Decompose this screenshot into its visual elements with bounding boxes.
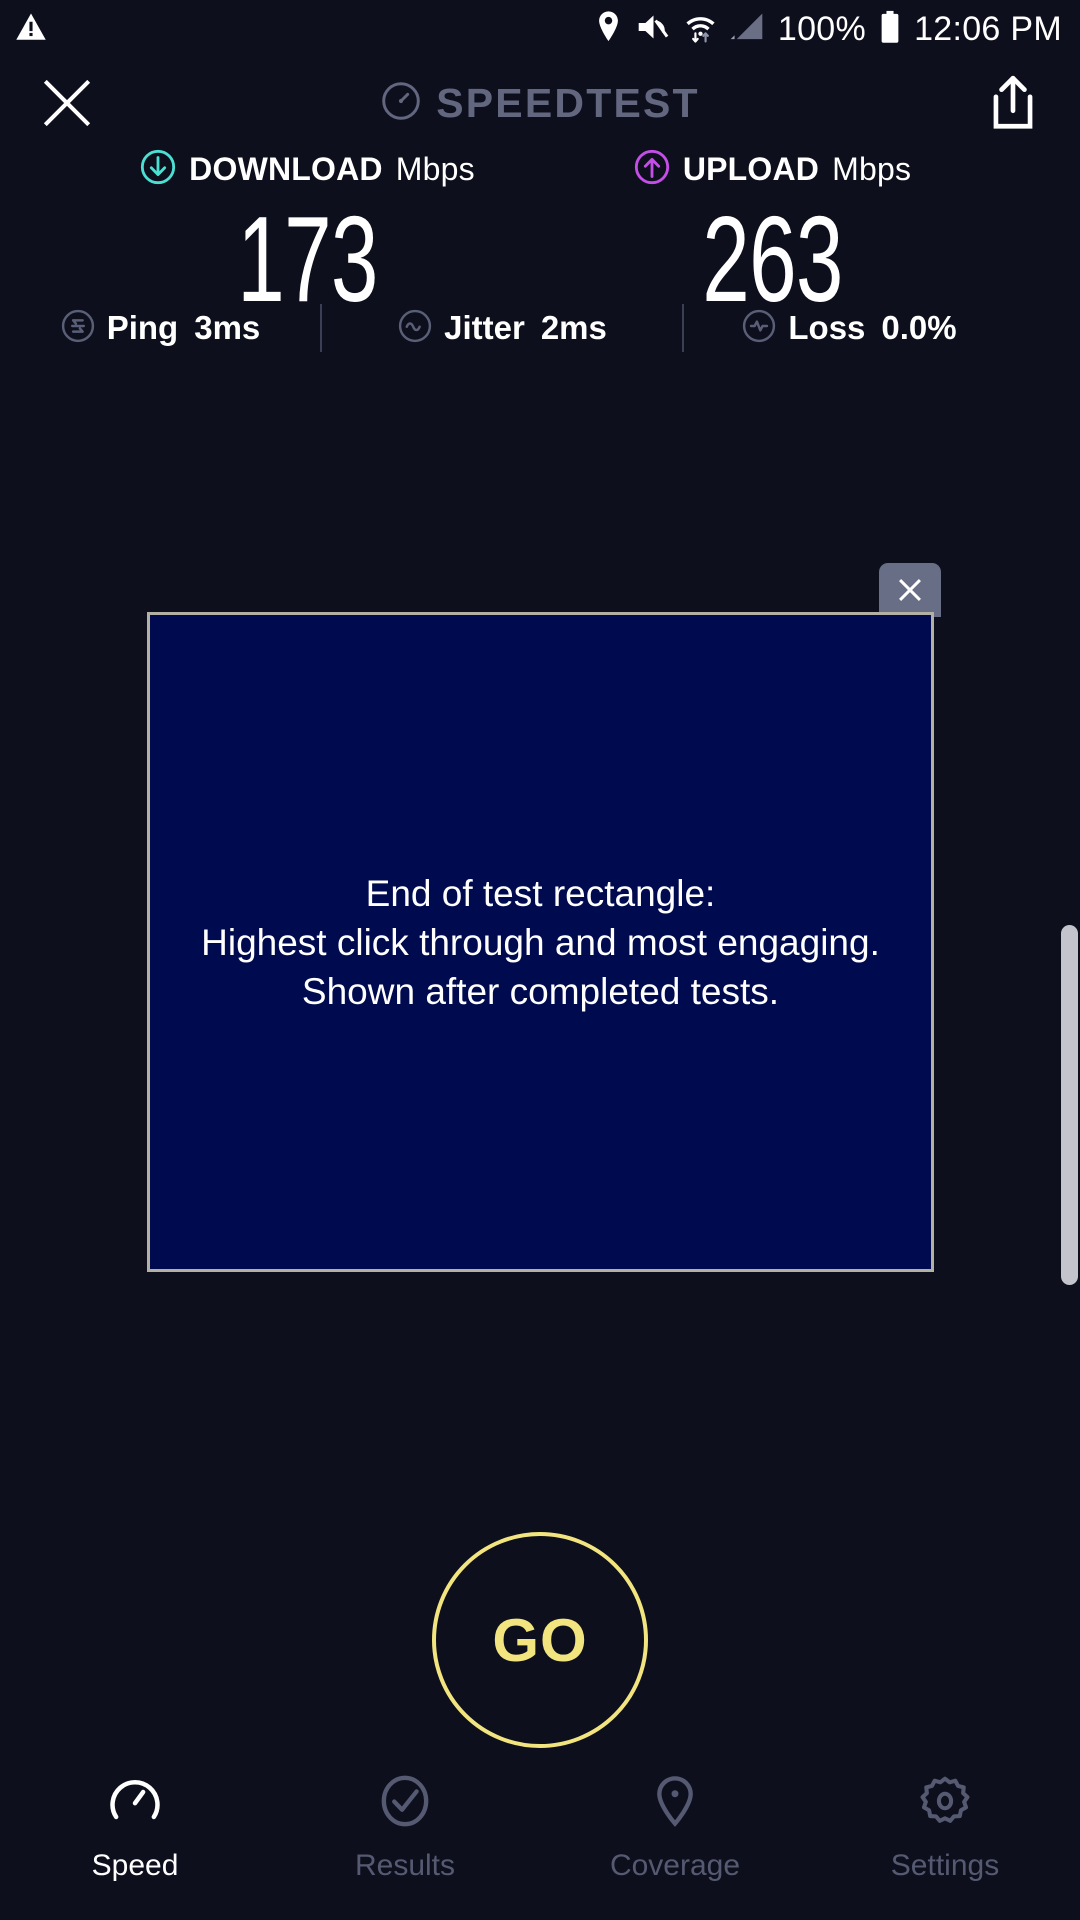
brand-title: SPEEDTEST bbox=[0, 70, 1080, 136]
warning-triangle-icon bbox=[14, 10, 48, 49]
loss-stat: Loss 0.0% bbox=[684, 300, 1014, 356]
jitter-stat: Jitter 2ms bbox=[322, 300, 682, 356]
ping-stat: Ping 3ms bbox=[0, 300, 320, 356]
nav-item-speed[interactable]: Speed bbox=[0, 1772, 270, 1883]
nav-item-results[interactable]: Results bbox=[270, 1772, 540, 1883]
upload-metric: UPLOAD Mbps 263 bbox=[575, 148, 970, 318]
nav-label-settings: Settings bbox=[891, 1849, 999, 1883]
download-label-row: DOWNLOAD Mbps bbox=[110, 148, 505, 190]
clock-label: 12:06 PM bbox=[914, 10, 1062, 49]
upload-label: UPLOAD bbox=[683, 151, 819, 188]
jitter-icon bbox=[397, 308, 433, 349]
nav-label-speed: Speed bbox=[92, 1849, 179, 1883]
upload-label-row: UPLOAD Mbps bbox=[575, 148, 970, 190]
location-pin-icon bbox=[594, 10, 623, 49]
advertisement-banner[interactable]: End of test rectangle: Highest click thr… bbox=[147, 612, 934, 1272]
speed-metrics-row: DOWNLOAD Mbps 173 UPLOAD Mbps bbox=[0, 148, 1080, 318]
loss-value: 0.0% bbox=[881, 309, 956, 347]
ad-close-button[interactable] bbox=[879, 563, 941, 617]
battery-full-icon bbox=[879, 10, 901, 49]
ad-line-3: Shown after completed tests. bbox=[201, 967, 880, 1016]
ad-line-2: Highest click through and most engaging. bbox=[201, 918, 880, 967]
ad-line-1: End of test rectangle: bbox=[201, 869, 880, 918]
nav-label-results: Results bbox=[355, 1849, 455, 1883]
download-label: DOWNLOAD bbox=[189, 151, 383, 188]
speedometer-icon bbox=[106, 1772, 164, 1835]
jitter-value: 2ms bbox=[541, 309, 607, 347]
loss-icon bbox=[741, 308, 777, 349]
speedtest-app-screen: 100% 12:06 PM bbox=[0, 0, 1080, 1920]
status-bar-left bbox=[14, 10, 48, 49]
ad-text: End of test rectangle: Highest click thr… bbox=[201, 869, 880, 1016]
loss-name: Loss bbox=[788, 309, 865, 347]
download-metric: DOWNLOAD Mbps 173 bbox=[110, 148, 505, 318]
nav-item-coverage[interactable]: Coverage bbox=[540, 1772, 810, 1883]
nav-label-coverage: Coverage bbox=[610, 1849, 740, 1883]
jitter-name: Jitter bbox=[444, 309, 525, 347]
ping-value: 3ms bbox=[194, 309, 260, 347]
go-button-label: GO bbox=[492, 1606, 587, 1675]
connection-stats-row: Ping 3ms Jitter 2ms Loss 0.0 bbox=[0, 300, 1080, 356]
wifi-transfer-icon bbox=[684, 10, 717, 49]
upload-unit: Mbps bbox=[832, 151, 911, 188]
ping-icon bbox=[60, 308, 96, 349]
ping-name: Ping bbox=[107, 309, 179, 347]
share-icon[interactable] bbox=[982, 72, 1044, 134]
brand-label: SPEEDTEST bbox=[436, 80, 700, 127]
volume-muted-icon bbox=[636, 10, 671, 49]
status-bar-right: 100% 12:06 PM bbox=[594, 10, 1062, 49]
app-header: SPEEDTEST bbox=[0, 58, 1080, 148]
battery-percent-label: 100% bbox=[778, 10, 866, 49]
check-circle-icon bbox=[376, 1772, 434, 1835]
status-bar: 100% 12:06 PM bbox=[0, 0, 1080, 58]
speedometer-icon bbox=[380, 80, 422, 127]
location-pin-icon bbox=[646, 1772, 704, 1835]
results-panel: DOWNLOAD Mbps 173 UPLOAD Mbps bbox=[0, 148, 1080, 318]
gear-icon bbox=[916, 1772, 974, 1835]
nav-item-settings[interactable]: Settings bbox=[810, 1772, 1080, 1883]
scrollbar-thumb[interactable] bbox=[1061, 925, 1078, 1285]
cellular-signal-icon bbox=[730, 10, 765, 49]
download-arrow-icon bbox=[140, 149, 176, 190]
download-unit: Mbps bbox=[396, 151, 475, 188]
bottom-navigation: Speed Results Coverage bbox=[0, 1762, 1080, 1920]
go-button[interactable]: GO bbox=[432, 1532, 648, 1748]
upload-arrow-icon bbox=[634, 149, 670, 190]
